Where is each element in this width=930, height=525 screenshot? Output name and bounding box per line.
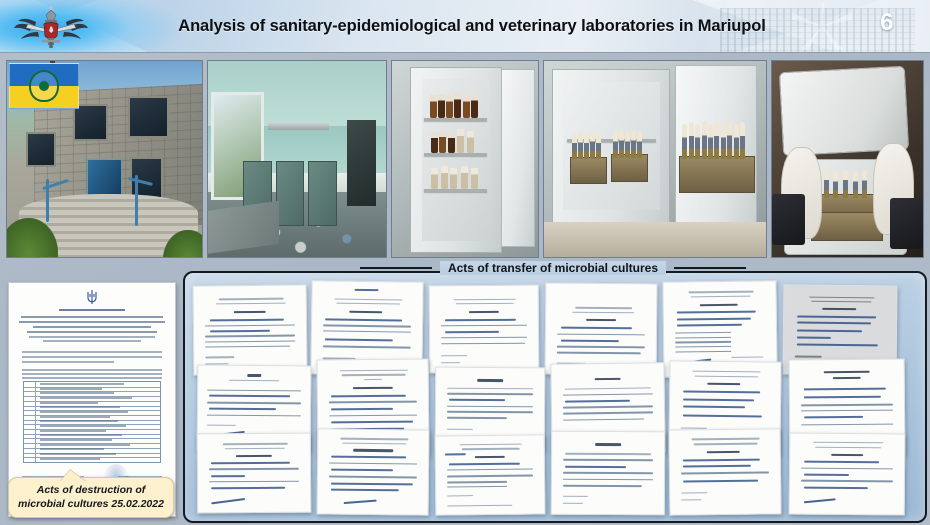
culture-bottle [431, 132, 438, 153]
shelf [424, 189, 487, 192]
test-tube [689, 122, 694, 159]
table-row[interactable] [317, 428, 430, 515]
culture-jar [471, 168, 478, 189]
culture-bottle [457, 129, 464, 153]
photo-open-refrigerator-with-test-tube-racks[interactable] [543, 60, 768, 258]
document-header-line [59, 309, 125, 311]
lower-test-tube-rack [811, 212, 882, 241]
table-row[interactable] [668, 428, 781, 515]
test-tube [631, 130, 636, 158]
broken-window [128, 96, 169, 137]
photo-gloved-hands-with-test-tube-rack-in-cooler[interactable] [771, 60, 924, 258]
test-tube [682, 124, 687, 159]
table-row[interactable] [429, 285, 540, 374]
document-paragraph-line [22, 373, 162, 375]
table-row[interactable] [435, 434, 546, 515]
shelf [424, 153, 487, 156]
test-tube [727, 121, 732, 160]
document-address-line [43, 340, 141, 342]
veterinary-service-emblem [29, 70, 59, 102]
test-tube [590, 131, 595, 159]
culture-bottle [463, 95, 470, 118]
door-test-tube-rack [679, 156, 755, 193]
counter-surface [544, 222, 767, 257]
test-tube [714, 122, 719, 159]
culture-jar [461, 166, 468, 189]
culture-bottle [439, 131, 446, 154]
test-tube [619, 130, 624, 158]
refrigerator-interior [422, 79, 490, 241]
title-rule-left [360, 267, 432, 269]
broken-window [26, 132, 55, 167]
doorway [347, 120, 376, 206]
test-tube [637, 131, 642, 158]
document-scan-grid [193, 281, 917, 513]
culture-bottle [446, 95, 453, 118]
refrigerator-interior [563, 82, 660, 210]
table-row[interactable] [193, 284, 308, 375]
test-tube [578, 132, 583, 159]
transfer-acts-panel [183, 271, 927, 523]
document-paragraph-line [22, 361, 114, 363]
lab-cabinet [308, 161, 337, 226]
sleeve [772, 194, 805, 245]
slide: Analysis of sanitary-epidemiological and… [0, 0, 930, 525]
table-column-divider [35, 382, 36, 462]
slide-header: Analysis of sanitary-epidemiological and… [0, 0, 930, 53]
document-org-line [19, 321, 165, 323]
russian-mod-eagle-emblem [12, 4, 90, 50]
test-tube-rack [570, 157, 607, 185]
ceiling-lamp [268, 122, 329, 130]
document-paragraph-line [22, 351, 162, 353]
culture-jar [441, 166, 448, 189]
slide-number: 6 [880, 9, 894, 37]
ukrainian-veterinary-service-flag [9, 63, 79, 109]
document-org-line [33, 326, 151, 328]
culture-bottle [438, 94, 445, 118]
test-tube [584, 133, 589, 159]
culture-bottle [454, 92, 461, 118]
culture-bottle [471, 94, 478, 118]
destruction-acts-callout: Acts of destruction of microbial culture… [8, 477, 174, 518]
culture-bottle [448, 132, 455, 153]
document-address-line [29, 336, 155, 338]
test-tube [625, 131, 630, 158]
culture-bottle [430, 95, 437, 118]
callout-tail [60, 470, 86, 482]
refrigerator-cabinet [552, 69, 670, 224]
ukrainian-trident-icon [86, 289, 98, 305]
test-tube [613, 131, 618, 158]
test-tube [708, 124, 713, 159]
test-tube-rack [611, 154, 648, 182]
table-row[interactable] [197, 433, 312, 514]
document-paragraph-line [22, 369, 162, 371]
culture-bottle [467, 131, 474, 154]
refrigerator-door [501, 69, 535, 247]
document-paragraph-line [22, 377, 162, 379]
photo-destroyed-laboratory-interior[interactable] [207, 60, 388, 258]
panel-title: Acts of transfer of microbial cultures [440, 261, 666, 275]
test-tube [824, 169, 829, 197]
broken-window [73, 104, 108, 141]
document-paragraph-line [22, 356, 162, 358]
panel-title-bar: Acts of transfer of microbial cultures [183, 259, 923, 277]
photo-damaged-laboratory-building[interactable] [6, 60, 203, 258]
test-tube [572, 133, 577, 159]
page-title: Analysis of sanitary-epidemiological and… [112, 0, 832, 52]
test-tube [862, 170, 867, 197]
bush [6, 218, 58, 258]
test-tube [596, 133, 601, 159]
test-tube [833, 171, 838, 197]
lab-cabinet [276, 161, 305, 226]
test-tube [721, 124, 726, 159]
test-tube [702, 121, 707, 160]
shelf [424, 118, 487, 121]
culture-jar [431, 168, 438, 189]
photo-refrigerator-with-culture-bottles[interactable] [391, 60, 538, 258]
destroyed-cultures-table [23, 381, 161, 463]
bush [163, 230, 203, 258]
refrigerator-door [675, 65, 757, 228]
test-tube [740, 122, 745, 159]
photo-strip [6, 60, 924, 258]
test-tube [843, 169, 848, 197]
test-tube [853, 171, 858, 197]
test-tube [734, 124, 739, 159]
table-row[interactable] [551, 431, 665, 516]
document-org-line [27, 331, 157, 333]
title-rule-right [674, 267, 746, 269]
test-tube [695, 124, 700, 159]
refrigerator-cabinet [410, 67, 502, 253]
sleeve [890, 198, 923, 249]
document-org-line [21, 316, 163, 318]
table-row[interactable] [789, 432, 906, 515]
culture-jar [450, 168, 457, 189]
